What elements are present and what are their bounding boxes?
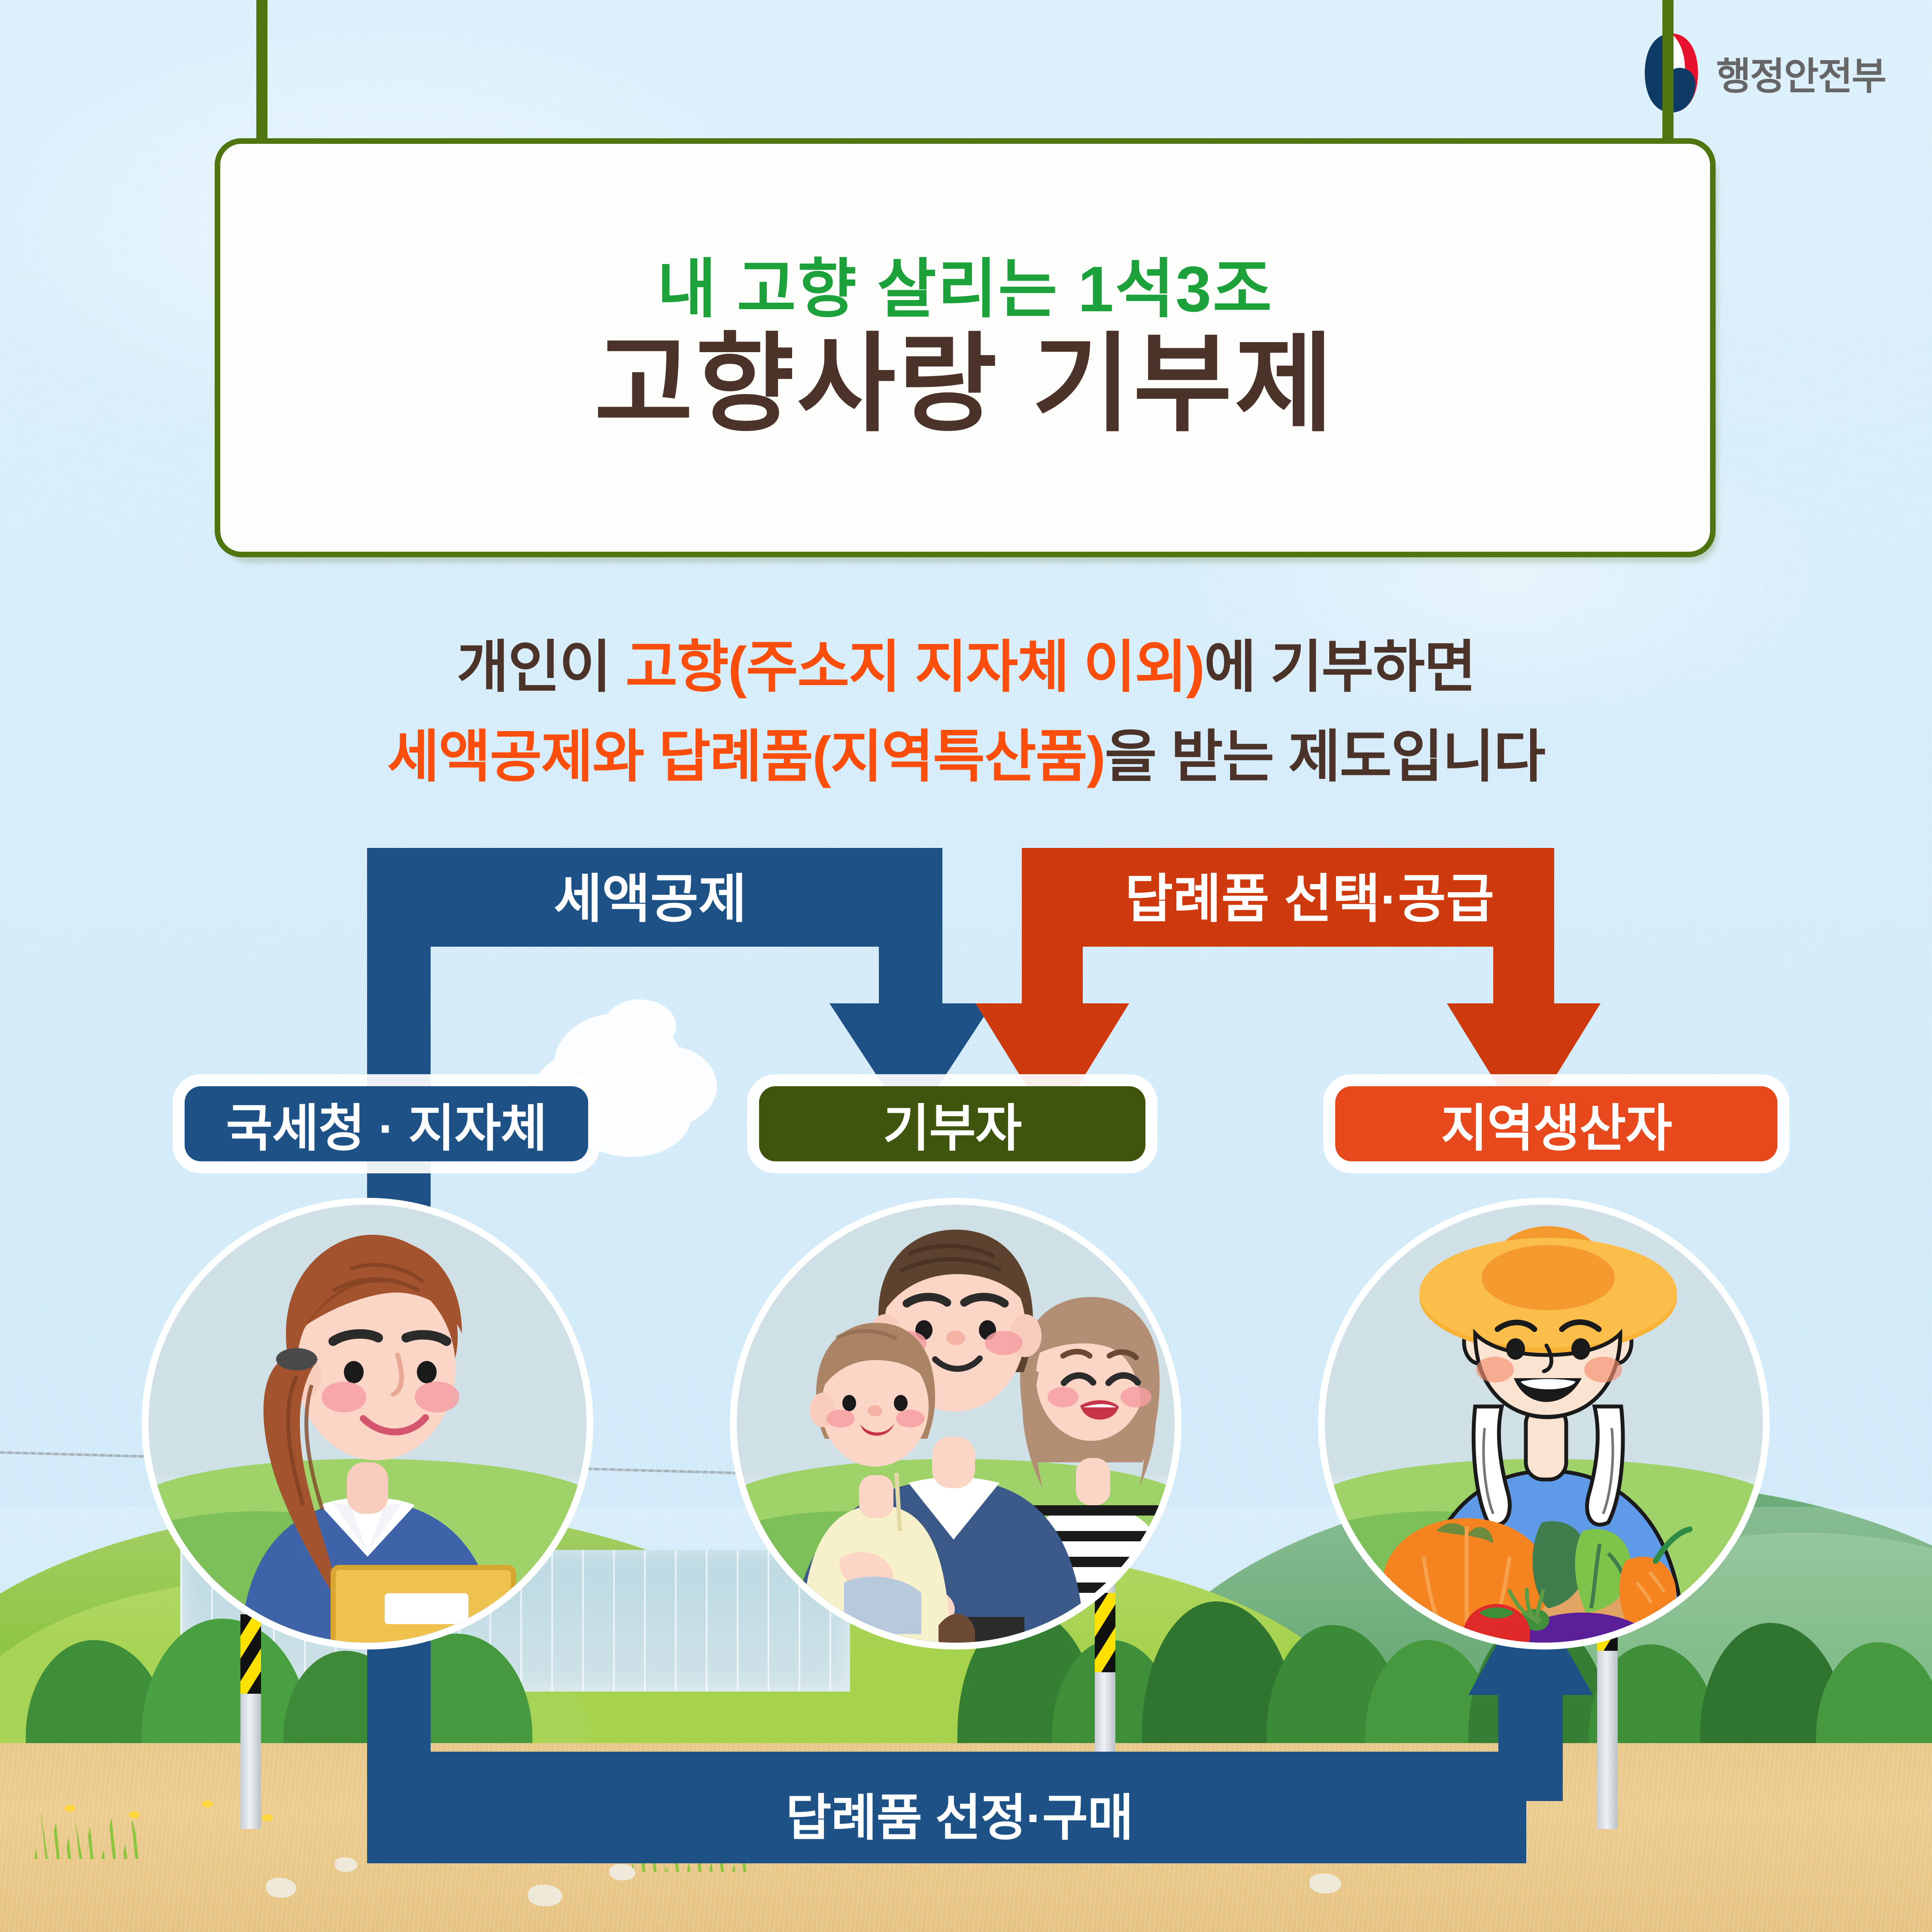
avatar-donor-family	[730, 1198, 1182, 1649]
poster-root: 행정안전부 내 고향 살리는 1석3조 고향사랑 기부제 개인이 고향(주소지 …	[0, 0, 1932, 1932]
tax-officer-illustration	[149, 1205, 586, 1643]
orange-arrow-right-stem	[1493, 947, 1554, 1007]
node-label-tax-office: 국세청 · 지자체	[226, 1087, 547, 1160]
avatar-local-farmer	[1318, 1198, 1770, 1649]
node-box-donor[interactable]: 기부자	[759, 1086, 1145, 1161]
orange-arrow-left-stem	[1022, 947, 1083, 1007]
node-box-tax-office[interactable]: 국세청 · 지자체	[185, 1086, 588, 1161]
orange-arrow-label: 답례품 선택·공급	[1125, 857, 1494, 933]
donor-family-illustration	[737, 1205, 1175, 1643]
return-arrow-right-stem	[1498, 1689, 1563, 1801]
local-farmer-illustration	[1325, 1205, 1763, 1643]
node-label-producer: 지역생산자	[1441, 1087, 1672, 1160]
blue-arrow-right-stem	[879, 947, 942, 1007]
node-box-producer[interactable]: 지역생산자	[1335, 1086, 1777, 1161]
flow-diagram: 세액공제 답례품 선택·공급 답례품 선정·구매	[0, 0, 1932, 1932]
blue-arrow-label: 세액공제	[554, 857, 747, 933]
avatar-tax-officer	[142, 1198, 593, 1649]
node-label-donor: 기부자	[883, 1087, 1022, 1160]
return-arrow-label: 답례품 선정·구매	[786, 1777, 1133, 1850]
